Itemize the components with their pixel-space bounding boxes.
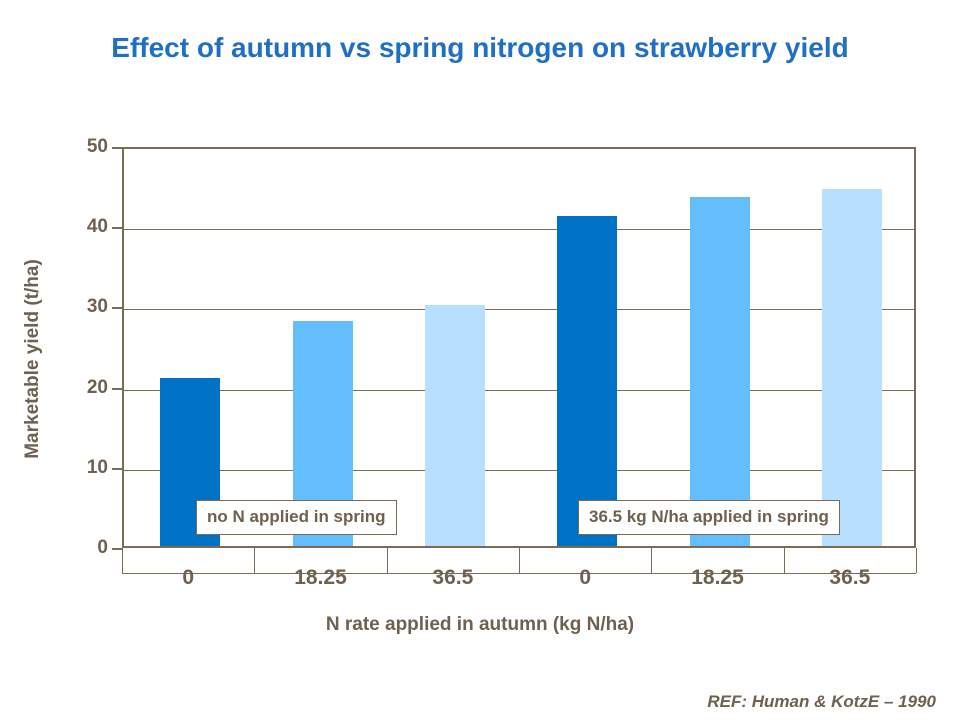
x-axis-title: N rate applied in autumn (kg N/ha) (0, 614, 960, 636)
y-axis-tick-label: 0 (48, 537, 108, 559)
bar (425, 305, 485, 546)
x-axis-tick-label: 0 (525, 566, 645, 590)
y-axis-tick-label: 40 (48, 216, 108, 238)
x-axis-separator (122, 548, 123, 573)
chart-title: Effect of autumn vs spring nitrogen on s… (0, 32, 960, 64)
bar (822, 189, 882, 546)
plot-area (122, 147, 916, 548)
y-axis-title: Marketable yield (t/ha) (22, 159, 44, 559)
x-axis-separator (916, 548, 917, 573)
y-axis-tick-label: 20 (48, 377, 108, 399)
x-axis-separator (519, 548, 520, 573)
x-axis-tick-label: 36.5 (393, 566, 513, 590)
x-axis-tick-label: 36.5 (790, 566, 910, 590)
y-axis-tick-mark (112, 548, 122, 550)
x-axis-separator (387, 548, 388, 573)
reference-note: REF: Human & KotzE – 1990 (707, 692, 936, 712)
y-axis-tick-mark (112, 388, 122, 390)
bar (557, 216, 617, 546)
y-axis-tick-label: 30 (48, 296, 108, 318)
y-axis-tick-mark (112, 147, 122, 149)
bar (690, 197, 750, 546)
x-axis-separator (651, 548, 652, 573)
gridline (124, 309, 914, 310)
x-axis-separator (784, 548, 785, 573)
gridline (124, 390, 914, 391)
legend-callout-no-spring-n: no N applied in spring (196, 500, 397, 535)
y-axis-tick-mark (112, 468, 122, 470)
gridline (124, 229, 914, 230)
x-axis-tick-label: 0 (128, 566, 248, 590)
y-axis-tick-label: 50 (48, 136, 108, 158)
x-axis-separator (254, 548, 255, 573)
y-axis-tick-label: 10 (48, 457, 108, 479)
x-axis-tick-label: 18.25 (261, 566, 381, 590)
y-axis-tick-mark (112, 227, 122, 229)
x-axis-tick-label: 18.25 (658, 566, 778, 590)
legend-callout-spring-n: 36.5 kg N/ha applied in spring (578, 500, 840, 535)
gridline (124, 470, 914, 471)
y-axis-tick-mark (112, 307, 122, 309)
chart-container: Effect of autumn vs spring nitrogen on s… (0, 0, 960, 720)
